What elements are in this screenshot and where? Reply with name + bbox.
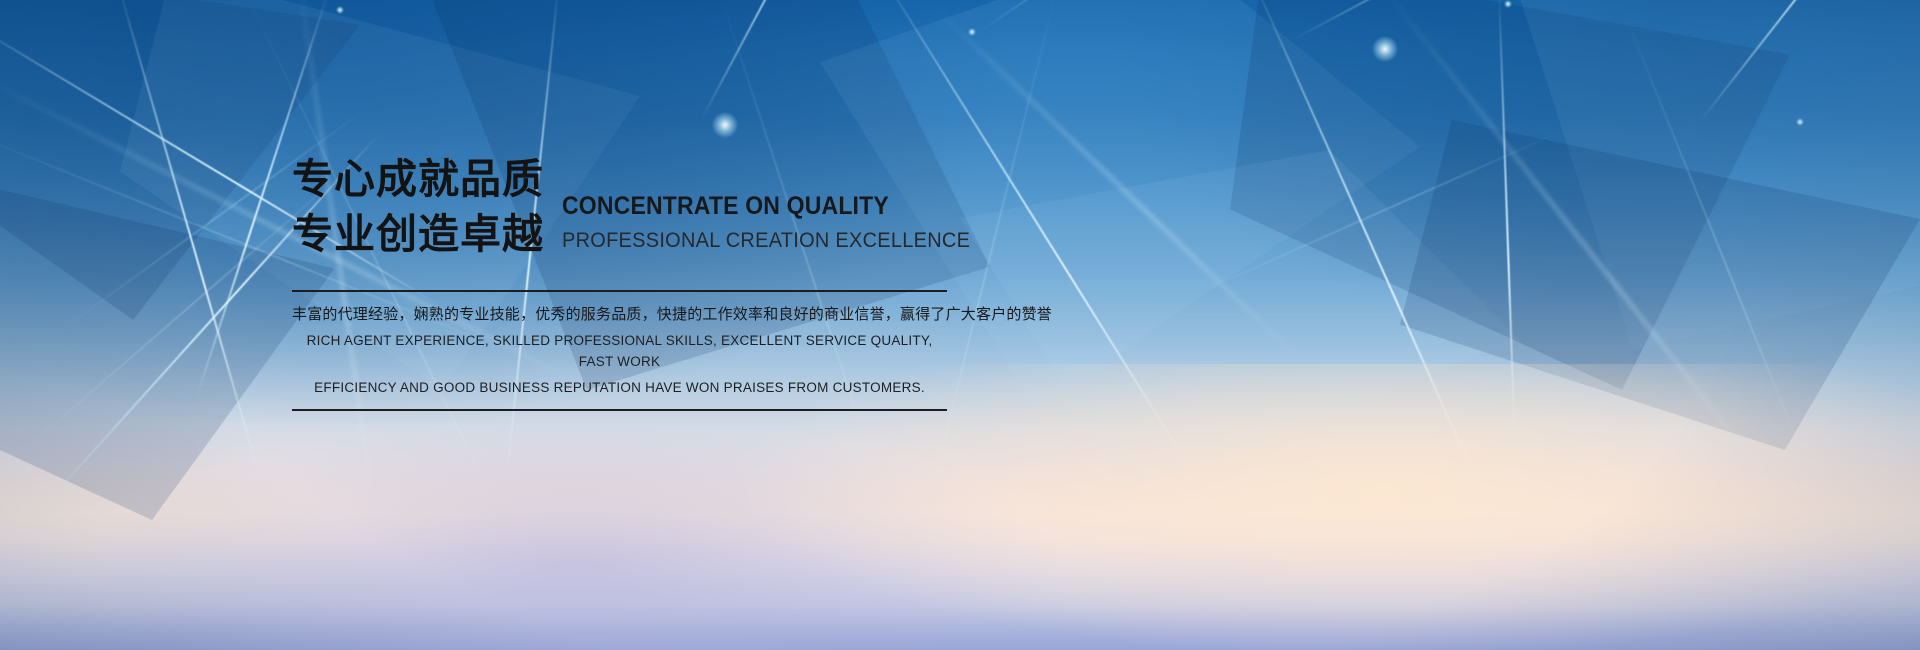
headline-cn-line1: 专心成就品质 [292, 152, 544, 207]
divider-top [292, 290, 947, 292]
divider-bottom [292, 409, 947, 411]
headline-en-subtitle: PROFESSIONAL CREATION EXCELLENCE [562, 227, 970, 255]
body-text-chinese: 丰富的代理经验，娴熟的专业技能，优秀的服务品质，快捷的工作效率和良好的商业信誉，… [292, 303, 972, 326]
headline-english: CONCENTRATE ON QUALITY PROFESSIONAL CREA… [562, 191, 992, 261]
body-text-english-line1: RICH AGENT EXPERIENCE, SKILLED PROFESSIO… [292, 330, 947, 373]
headline-row: 专心成就品质 专业创造卓越 CONCENTRATE ON QUALITY PRO… [292, 152, 972, 261]
hero-banner: 专心成就品质 专业创造卓越 CONCENTRATE ON QUALITY PRO… [0, 0, 1920, 650]
headline-en-title: CONCENTRATE ON QUALITY [562, 191, 957, 221]
body-text-english-line2: EFFICIENCY AND GOOD BUSINESS REPUTATION … [292, 377, 947, 399]
banner-content: 专心成就品质 专业创造卓越 CONCENTRATE ON QUALITY PRO… [292, 152, 972, 411]
headline-chinese: 专心成就品质 专业创造卓越 [292, 152, 544, 261]
headline-cn-line2: 专业创造卓越 [292, 207, 544, 262]
